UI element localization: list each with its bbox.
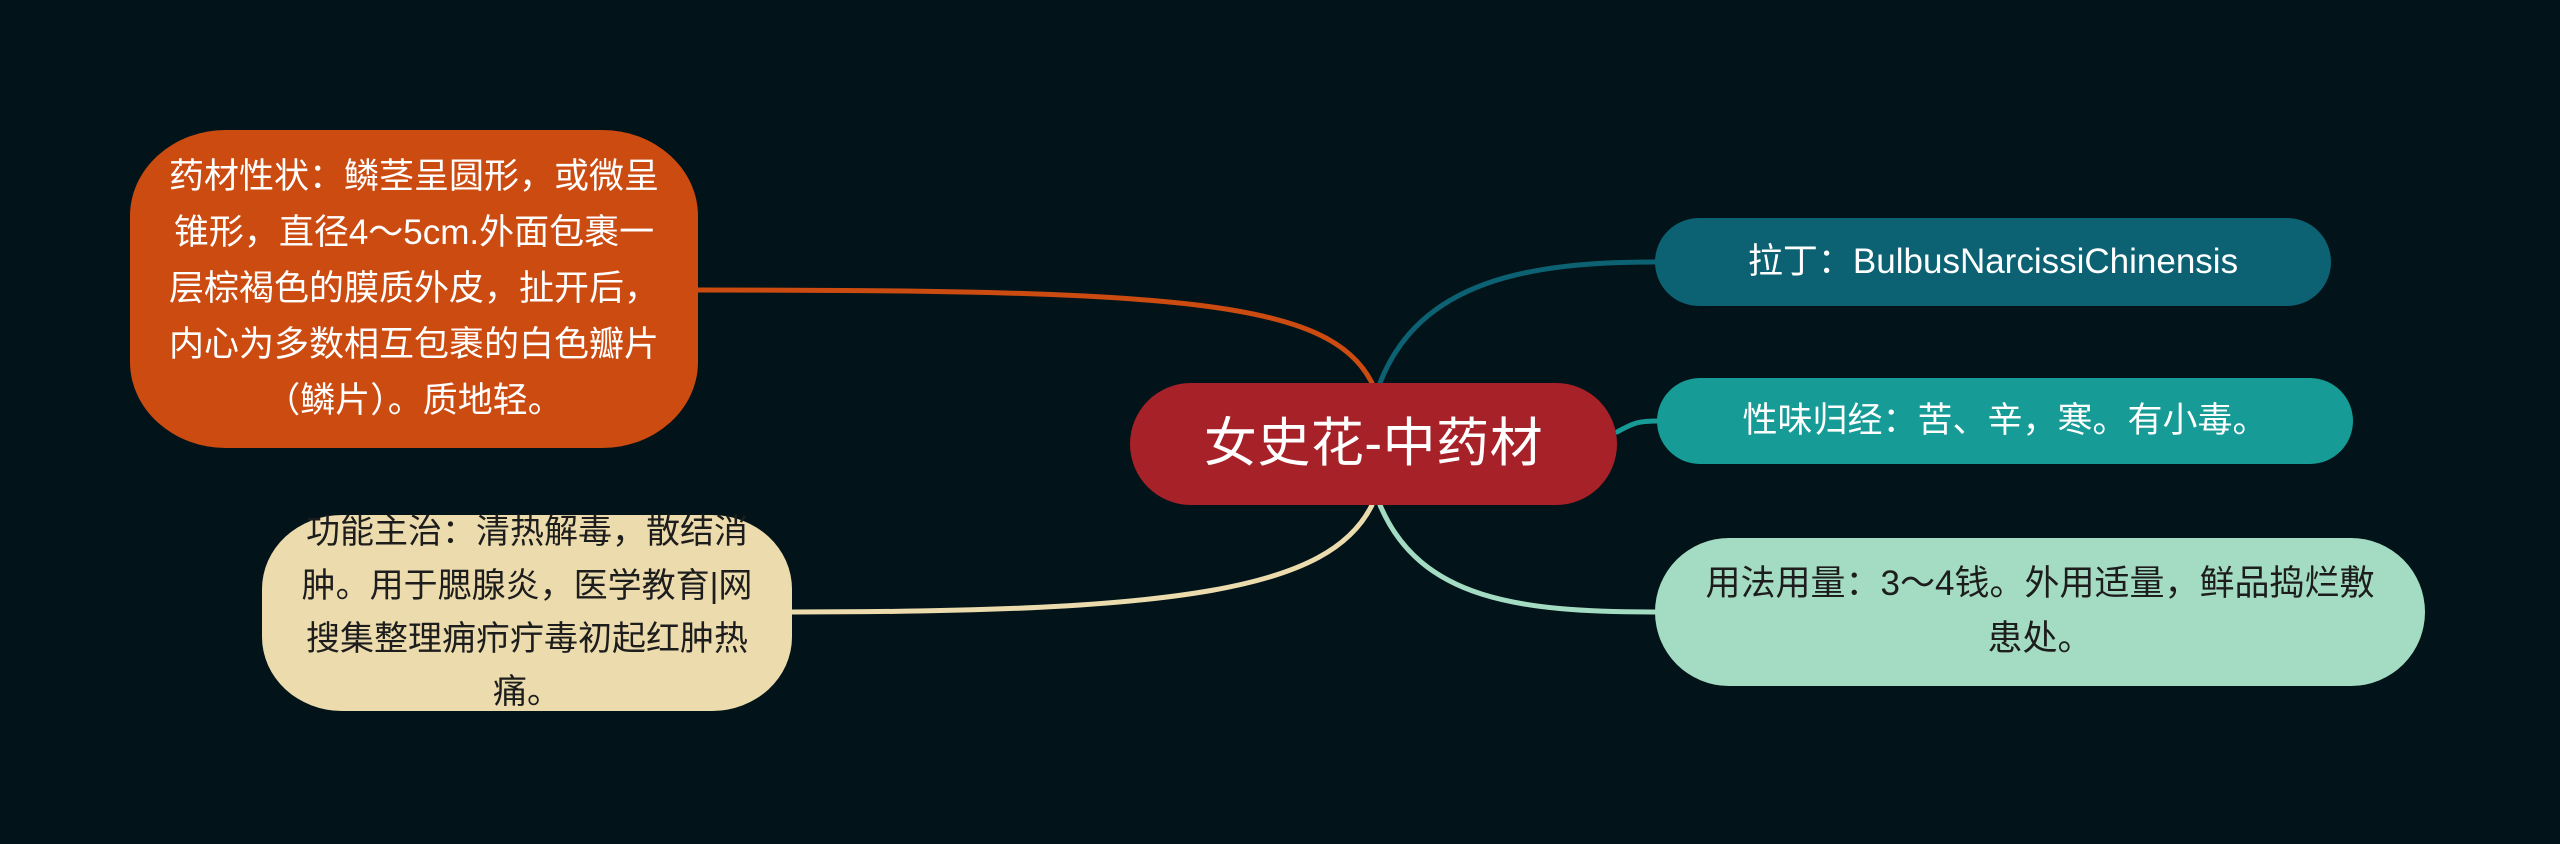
branch-node-label: 拉丁：BulbusNarcissiChinensis xyxy=(1689,237,2297,287)
branch-node-label: 功能主治：清热解毒，散结消肿。用于腮腺炎，医学教育|网搜集整理痈疖疔毒初起红肿热… xyxy=(296,506,758,720)
branch-node-ladin[interactable]: 拉丁：BulbusNarcissiChinensis xyxy=(1655,218,2331,306)
connector-ladin xyxy=(1380,262,1655,383)
connector-yongfa xyxy=(1380,505,1655,612)
branch-node-label: 性味归经：苦、辛，寒。有小毒。 xyxy=(1691,396,2319,446)
branch-node-label: 药材性状：鳞茎呈圆形，或微呈锥形，直径4～5cm.外面包裹一层棕褐色的膜质外皮，… xyxy=(166,149,662,429)
branch-node-gongneng-zhuzhi[interactable]: 功能主治：清热解毒，散结消肿。用于腮腺炎，医学教育|网搜集整理痈疖疔毒初起红肿热… xyxy=(262,515,792,711)
branch-node-yaocai-xingzhuang[interactable]: 药材性状：鳞茎呈圆形，或微呈锥形，直径4～5cm.外面包裹一层棕褐色的膜质外皮，… xyxy=(130,130,698,448)
connector-xingwei xyxy=(1617,421,1657,432)
connector-xingzhuang xyxy=(698,290,1372,383)
branch-node-yongfa-yongliang[interactable]: 用法用量：3～4钱。外用适量，鲜品捣烂敷患处。 xyxy=(1655,538,2425,686)
center-node-label: 女史花-中药材 xyxy=(1130,406,1617,481)
center-node-nushihua[interactable]: 女史花-中药材 xyxy=(1130,383,1617,505)
branch-node-xingwei-guijing[interactable]: 性味归经：苦、辛，寒。有小毒。 xyxy=(1657,378,2353,464)
connector-zhuzhi xyxy=(792,505,1372,612)
mindmap-canvas: 药材性状：鳞茎呈圆形，或微呈锥形，直径4～5cm.外面包裹一层棕褐色的膜质外皮，… xyxy=(0,0,2560,844)
branch-node-label: 用法用量：3～4钱。外用适量，鲜品捣烂敷患处。 xyxy=(1695,557,2385,666)
